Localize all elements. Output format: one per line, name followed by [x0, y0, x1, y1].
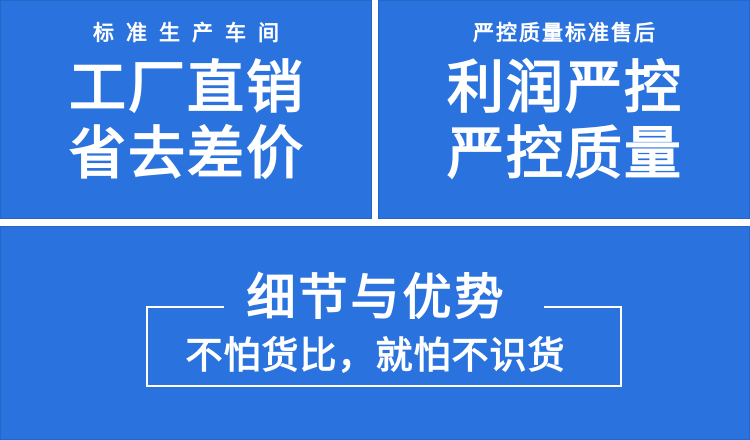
- panel-details-advantages: 细节与优势 不怕货比，就怕不识货: [0, 226, 750, 440]
- details-title: 细节与优势: [1, 274, 749, 323]
- details-subtitle: 不怕货比，就怕不识货: [1, 337, 749, 374]
- panel-factory-direct-headline-line2: 省去差价: [67, 122, 305, 186]
- panel-quality-control-headline-line2: 严控质量: [445, 122, 683, 186]
- panel-factory-direct-headline-line1: 工厂直销: [67, 56, 305, 120]
- panel-quality-control-content: 严控质量标准售后 利润严控 严控质量: [379, 1, 749, 218]
- promo-banner: 标准生产车间 工厂直销 省去差价 严控质量标准售后 利润严控 严控质量 细节与优…: [0, 0, 750, 440]
- panel-quality-control-eyebrow: 严控质量标准售后: [471, 23, 657, 44]
- panel-quality-control-headline-line1: 利润严控: [445, 56, 683, 120]
- panel-factory-direct-content: 标准生产车间 工厂直销 省去差价: [1, 1, 371, 218]
- panel-factory-direct-eyebrow: 标准生产车间: [81, 23, 291, 44]
- panel-factory-direct: 标准生产车间 工厂直销 省去差价: [0, 0, 372, 219]
- panel-quality-control: 严控质量标准售后 利润严控 严控质量: [378, 0, 750, 219]
